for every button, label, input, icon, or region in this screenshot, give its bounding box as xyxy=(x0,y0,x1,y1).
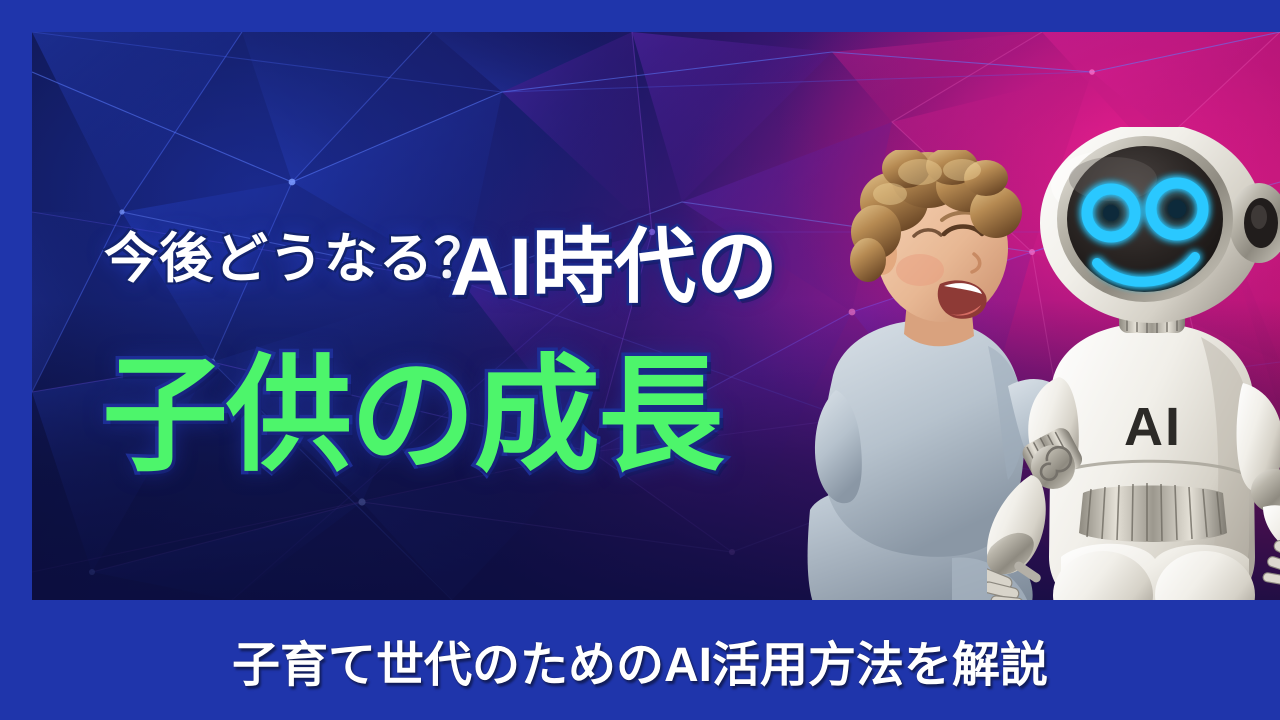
thumbnail-root: AI xyxy=(0,0,1280,720)
caption-bar: 子育て世代のためのAI活用方法を解説 xyxy=(0,600,1280,720)
robot-figure: AI xyxy=(987,127,1280,600)
hero-image: AI xyxy=(32,32,1280,600)
svg-text:AI: AI xyxy=(1124,397,1182,457)
caption-text: 子育て世代のためのAI活用方法を解説 xyxy=(232,625,1048,695)
